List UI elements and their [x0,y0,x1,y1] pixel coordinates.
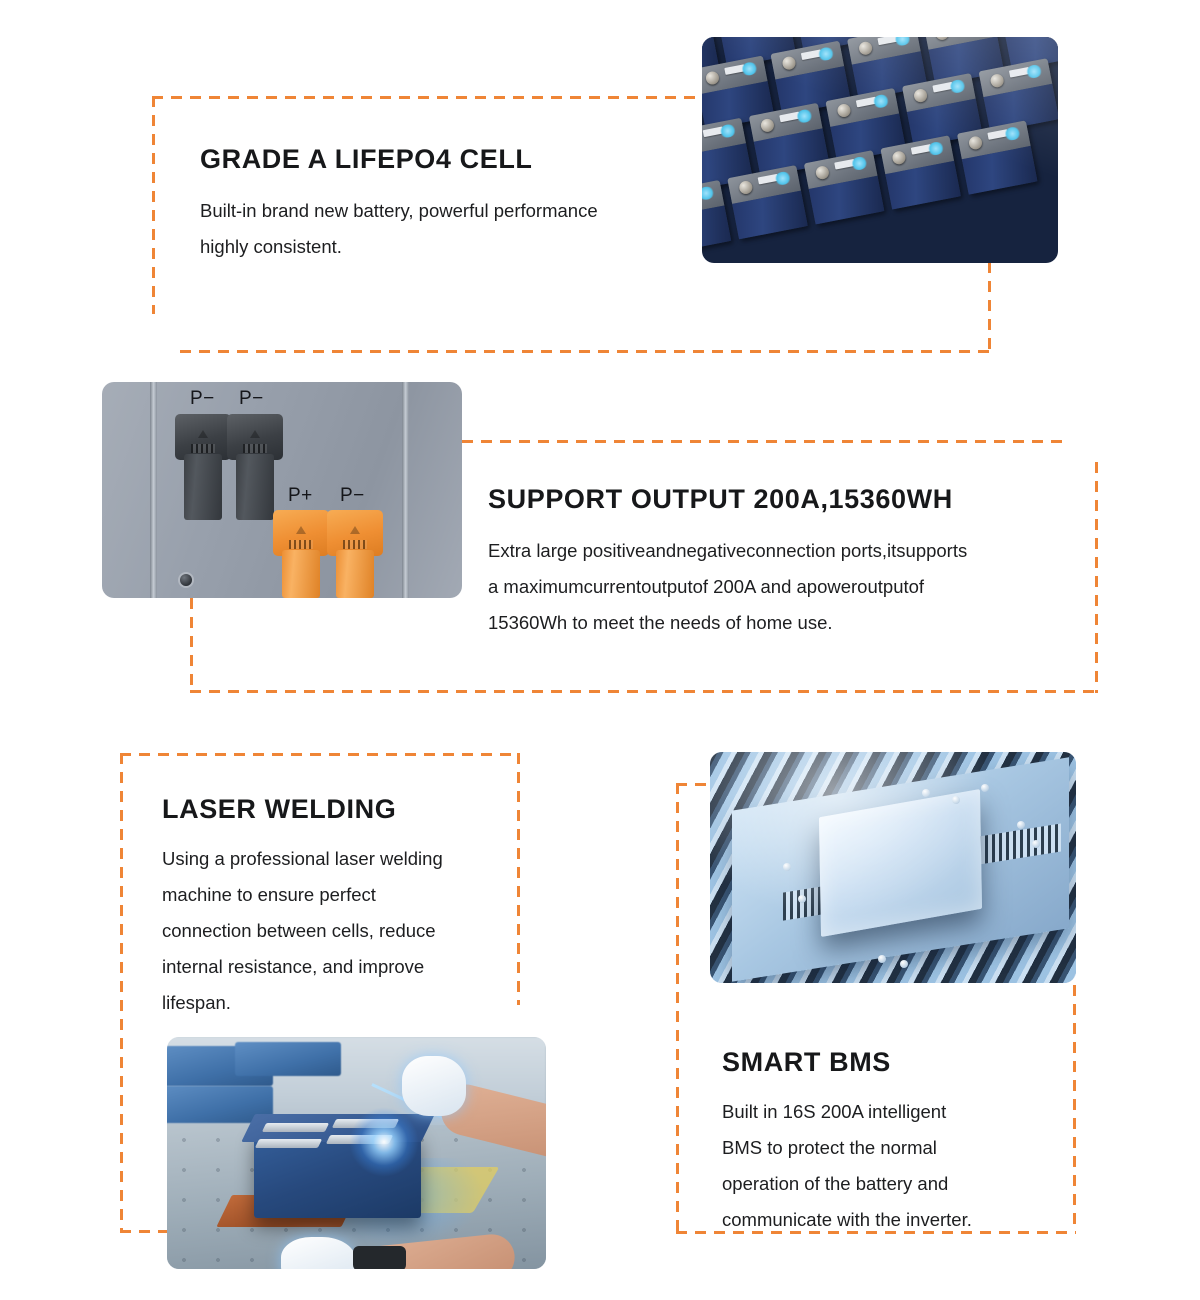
feature-title: SMART BMS [722,1048,1062,1078]
blue-crate [235,1042,341,1077]
feature-body-line: operation of the battery and [722,1166,1062,1202]
port-label-p-minus-1: P− [190,388,215,410]
feature-body-line: Extra large positiveandnegativeconnectio… [488,533,1088,569]
feature-body-line: machine to ensure perfect [162,877,522,913]
port-label-p-minus-2: P− [239,388,264,410]
feature-body-line: Using a professional laser welding [162,841,522,877]
frame3-top-line [120,753,520,756]
feature-body: Extra large positiveandnegativeconnectio… [488,533,1088,641]
frame2-top-line [462,440,1062,443]
feature-block-laser-welding: LASER WELDING Using a professional laser… [162,795,522,1021]
laser-welding-photo [167,1037,546,1269]
frame3-left-line [120,753,123,1233]
frame2-bottom-line [190,690,1098,693]
port-label-p-minus-3: P− [340,485,365,507]
frame4-top-line [676,783,712,786]
operator-glove-upper [402,1056,466,1116]
weld-spark [349,1107,419,1177]
feature-title: SUPPORT OUTPUT 200A,15360WH [488,485,1088,515]
panel-seam-right [402,382,409,598]
frame4-left-line [676,783,679,1231]
feature-body-line: a maximumcurrentoutputof 200A and apower… [488,569,1088,605]
frame1-top-line [152,96,702,99]
feature-body-line: BMS to protect the normal [722,1130,1062,1166]
feature-body-line: Built in 16S 200A intelligent [722,1094,1062,1130]
port-label-p-plus: P+ [288,485,313,507]
frame1-left-line [152,96,155,314]
feature-body-line: internal resistance, and improve [162,949,522,985]
chip-highlight [710,752,1076,983]
photo-sheen [702,37,1058,263]
connector-orange-positive [282,510,320,598]
connector-ports-photo: P− P− P+ P− [102,382,462,598]
lifepo4-cells-photo [702,37,1058,263]
feature-body-line: 15360Wh to meet the needs of home use. [488,605,1088,641]
feature-body: Using a professional laser welding machi… [162,841,522,1021]
connector-black-1 [184,414,222,520]
feature-title: GRADE A LIFEPO4 CELL [200,145,700,175]
wrist-watch [353,1246,406,1269]
feature-title: LASER WELDING [162,795,522,825]
feature-body-line: Built-in brand new battery, powerful per… [200,193,700,229]
feature-block-smart-bms: SMART BMS Built in 16S 200A intelligent … [722,1048,1062,1238]
connector-orange-negative [336,510,374,598]
frame2-left-line [190,598,193,693]
feature-infographic-page: GRADE A LIFEPO4 CELL Built-in brand new … [0,0,1200,1300]
feature-body: Built in 16S 200A intelligent BMS to pro… [722,1094,1062,1238]
bms-chip-photo [710,752,1076,983]
frame1-right-line [988,262,991,353]
feature-body: Built-in brand new battery, powerful per… [200,193,700,265]
feature-block-grade-a-cell: GRADE A LIFEPO4 CELL Built-in brand new … [200,145,700,265]
frame2-right-line [1095,462,1098,693]
feature-body-line: connection between cells, reduce [162,913,522,949]
panel-seam-left [150,382,157,598]
frame1-bottom-line [180,350,991,353]
panel-screw [180,574,192,586]
feature-block-support-output: SUPPORT OUTPUT 200A,15360WH Extra large … [488,485,1088,641]
feature-body-line: highly consistent. [200,229,700,265]
frame3-bottom-line [120,1230,172,1233]
frame4-right-line [1073,985,1076,1231]
feature-body-line: communicate with the inverter. [722,1202,1062,1238]
connector-black-2 [236,414,274,520]
feature-body-line: lifespan. [162,985,522,1021]
